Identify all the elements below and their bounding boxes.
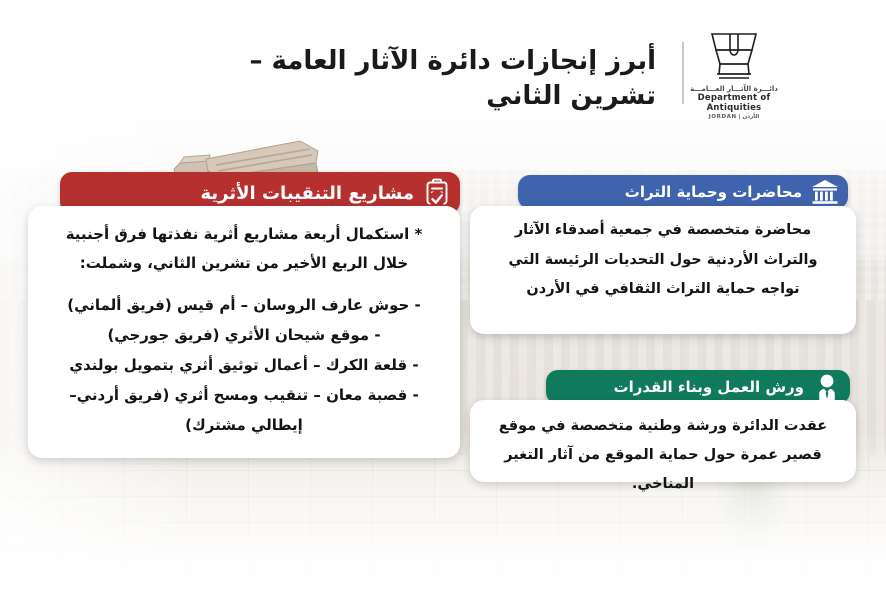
classical-temple-icon — [802, 179, 848, 205]
banner-lectures-title: محاضرات وحماية التراث — [518, 183, 802, 201]
person-professional-icon — [804, 373, 850, 401]
list-item: - موقع شيحان الأثري (فريق جورجي) — [48, 321, 440, 350]
excavations-intro: * استكمال أربعة مشاريع أثرية نفذتها فرق … — [48, 220, 440, 279]
card-workshops: عقدت الدائرة ورشة وطنية متخصصة في موقع ق… — [470, 400, 856, 482]
banner-workshops-title: ورش العمل وبناء القدرات — [546, 378, 804, 396]
list-item: - قصبة معان – تنقيب ومسح أثري (فريق أردن… — [48, 381, 440, 440]
list-item: - قلعة الكرك – أعمال توثيق أثري بتمويل ب… — [48, 351, 440, 380]
department-logo: دائـــرة الآثـــار العـــامـــة Departme… — [678, 30, 790, 122]
header: أبرز إنجازات دائرة الآثار العامة – تشرين… — [0, 18, 886, 114]
banner-workshops[interactable]: ورش العمل وبناء القدرات — [546, 370, 850, 404]
list-item: - حوش عارف الروسان – أم قيس (فريق ألماني… — [48, 291, 440, 320]
clipboard-check-icon — [414, 178, 460, 208]
logo-english-name: Department of Antiquities — [678, 93, 790, 113]
card-lectures: محاضرة متخصصة في جمعية أصدقاء الآثار وال… — [470, 206, 856, 334]
banner-excavations-title: مشاريع التنقيبات الأثرية — [60, 183, 414, 204]
antiquities-vessel-logo — [696, 30, 772, 84]
card-excavations: * استكمال أربعة مشاريع أثرية نفذتها فرق … — [28, 206, 460, 458]
banner-lectures[interactable]: محاضرات وحماية التراث — [518, 175, 848, 209]
lectures-body: محاضرة متخصصة في جمعية أصدقاء الآثار وال… — [470, 206, 856, 315]
workshops-body: عقدت الدائرة ورشة وطنية متخصصة في موقع ق… — [470, 400, 856, 511]
logo-arabic-name: دائـــرة الآثـــار العـــامـــة — [678, 85, 790, 93]
excavations-bullet-list: - حوش عارف الروسان – أم قيس (فريق ألماني… — [48, 291, 440, 440]
logo-country-line: الأردن | JORDAN — [678, 114, 790, 120]
infographic-root: أبرز إنجازات دائرة الآثار العامة – تشرين… — [0, 0, 886, 600]
page-title: أبرز إنجازات دائرة الآثار العامة – تشرين… — [226, 44, 656, 114]
